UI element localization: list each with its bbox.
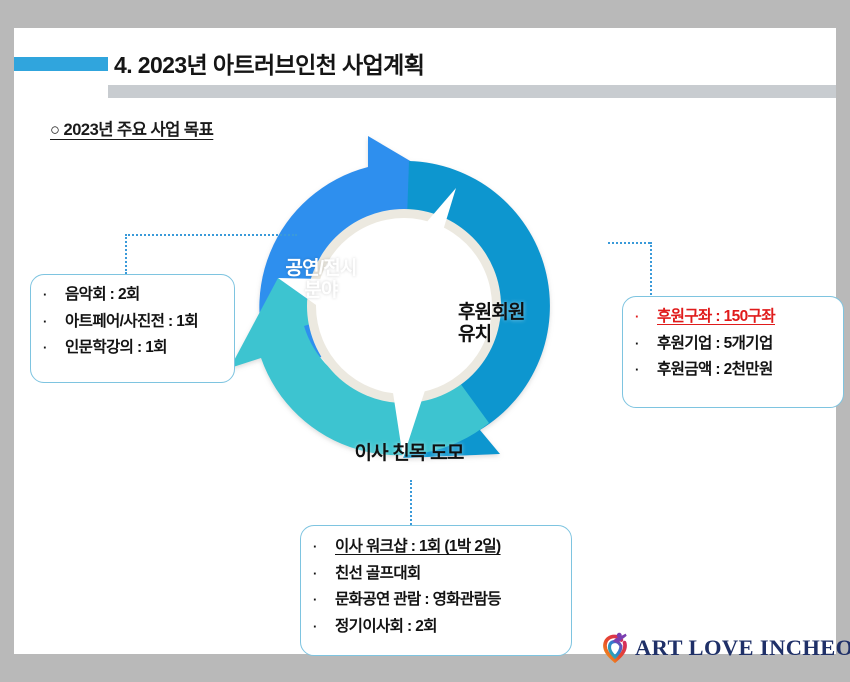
bullet-icon: · (313, 567, 335, 580)
callout-performance-details: · 음악회 : 2회 · 아트페어/사진전 : 1회 · 인문학강의 : 1회 (30, 274, 235, 383)
list-item-label: 문화공연 관람 : 영화관람등 (335, 592, 501, 608)
logo-wordmark: ART LOVE INCHEON (635, 635, 850, 661)
performance-detail-list: · 음악회 : 2회 · 아트페어/사진전 : 1회 · 인문학강의 : 1회 (43, 287, 224, 356)
list-item: · 문화공연 관람 : 영화관람등 (313, 592, 561, 608)
list-item-label: 아트페어/사진전 : 1회 (65, 314, 198, 330)
list-item-highlighted: · 후원구좌 : 150구좌 (635, 309, 833, 325)
sponsor-detail-list: · 후원구좌 : 150구좌 · 후원기업 : 5개기업 · 후원금액 : 2천… (635, 309, 833, 378)
list-item: · 후원기업 : 5개기업 (635, 336, 833, 352)
title-accent-bar (14, 57, 108, 71)
heart-person-logo-icon (598, 631, 632, 665)
list-item: · 인문학강의 : 1회 (43, 340, 224, 356)
list-item-label: 음악회 : 2회 (65, 287, 140, 303)
board-detail-list: · 이사 워크샵 : 1회 (1박 2일) · 친선 골프대회 · 문화공연 관… (313, 539, 561, 634)
list-item-label: 친선 골프대회 (335, 566, 421, 582)
cycle-label-board: 이사 친목 도모 (314, 443, 504, 465)
list-item-underlined: · 이사 워크샵 : 1회 (1박 2일) (313, 539, 561, 555)
list-item-label: 후원기업 : 5개기업 (657, 336, 773, 352)
cycle-diagram: 공연/전시 분야 후원회원 유치 이사 친목 도모 (218, 120, 590, 492)
bullet-icon: · (313, 540, 335, 553)
connector-left-vertical (125, 234, 127, 274)
slide-canvas: 4. 2023년 아트러브인천 사업계획 ○ 2023년 주요 사업 목표 (14, 28, 836, 654)
cycle-label-sponsor: 후원회원 유치 (458, 302, 588, 347)
cycle-label-performance: 공연/전시 분야 (256, 258, 386, 303)
bullet-icon: · (635, 337, 657, 350)
callout-sponsor-details: · 후원구좌 : 150구좌 · 후원기업 : 5개기업 · 후원금액 : 2천… (622, 296, 844, 408)
connector-left-horizontal (125, 234, 297, 236)
list-item: · 정기이사회 : 2회 (313, 619, 561, 635)
bullet-icon: · (43, 315, 65, 328)
bullet-icon: · (635, 310, 657, 323)
list-item-label: 정기이사회 : 2회 (335, 619, 437, 635)
organization-logo: ART LOVE INCHEON (598, 628, 836, 668)
connector-right-horizontal (608, 242, 650, 244)
list-item: · 친선 골프대회 (313, 566, 561, 582)
bullet-icon: · (43, 288, 65, 301)
list-item: · 후원금액 : 2천만원 (635, 362, 833, 378)
bullet-icon: · (635, 363, 657, 376)
list-item-label: 인문학강의 : 1회 (65, 340, 167, 356)
title-underline-bar (108, 85, 836, 98)
page-title: 4. 2023년 아트러브인천 사업계획 (114, 46, 814, 84)
list-item-label: 이사 워크샵 : 1회 (1박 2일) (335, 539, 501, 555)
bullet-icon: · (313, 593, 335, 606)
list-item-label: 후원구좌 : 150구좌 (657, 309, 775, 325)
connector-bottom-vertical (410, 480, 412, 525)
callout-board-details: · 이사 워크샵 : 1회 (1박 2일) · 친선 골프대회 · 문화공연 관… (300, 525, 572, 656)
section-heading: ○ 2023년 주요 사업 목표 (50, 116, 213, 140)
list-item-label: 후원금액 : 2천만원 (657, 362, 773, 378)
bullet-icon: · (43, 341, 65, 354)
list-item: · 아트페어/사진전 : 1회 (43, 314, 224, 330)
list-item: · 음악회 : 2회 (43, 287, 224, 303)
bullet-icon: · (313, 620, 335, 633)
